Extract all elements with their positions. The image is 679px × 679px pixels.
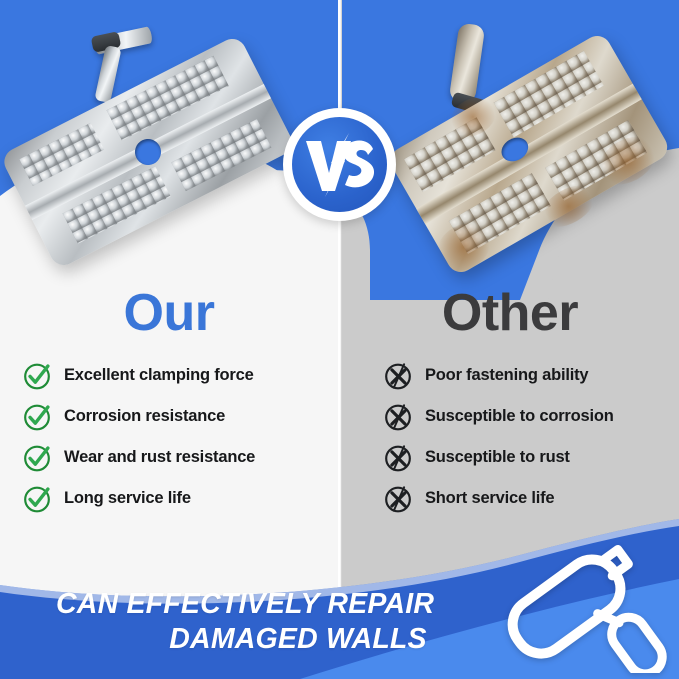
heading-other: Other [341,287,679,339]
feature-label: Wear and rust resistance [64,448,255,467]
feature-label: Long service life [64,489,191,508]
list-item: Corrosion resistance [22,396,332,437]
banner-line-1: CAN EFFECTIVELY REPAIR [42,587,512,622]
clamp-arm-other [449,23,486,104]
banner-text: CAN EFFECTIVELY REPAIR DAMAGED WALLS [42,587,512,657]
vs-badge-inner [292,117,387,212]
feature-label: Excellent clamping force [64,366,254,385]
list-item: Susceptible to corrosion [383,396,679,437]
list-item: Excellent clamping force [22,355,332,396]
check-circle-icon [22,361,52,391]
feature-label: Susceptible to corrosion [425,407,614,426]
banner-line-2: DAMAGED WALLS [42,622,512,657]
feature-label: Short service life [425,489,554,508]
list-item: Susceptible to rust [383,437,679,478]
comparison-infographic: Our Other Excellent clamping force Corro… [0,0,679,679]
cross-circle-icon [383,402,413,432]
check-circle-icon [22,484,52,514]
cross-circle-icon [383,484,413,514]
heading-our: Our [0,287,338,339]
check-circle-icon [22,443,52,473]
list-item: Poor fastening ability [383,355,679,396]
cross-circle-icon [383,443,413,473]
product-image-other [400,18,672,290]
product-image-our [8,18,308,290]
feature-label: Poor fastening ability [425,366,588,385]
paint-roller-icon [497,533,673,673]
vs-badge [283,108,396,221]
feature-list-other: Poor fastening ability Susceptible to co… [383,355,679,519]
list-item: Short service life [383,478,679,519]
repair-plate-our [0,34,296,270]
list-item: Long service life [22,478,332,519]
feature-label: Susceptible to rust [425,448,570,467]
vs-lightning-icon [301,133,379,197]
check-circle-icon [22,402,52,432]
feature-label: Corrosion resistance [64,407,225,426]
repair-plate-other [386,31,673,277]
list-item: Wear and rust resistance [22,437,332,478]
cross-circle-icon [383,361,413,391]
feature-list-our: Excellent clamping force Corrosion resis… [22,355,332,519]
